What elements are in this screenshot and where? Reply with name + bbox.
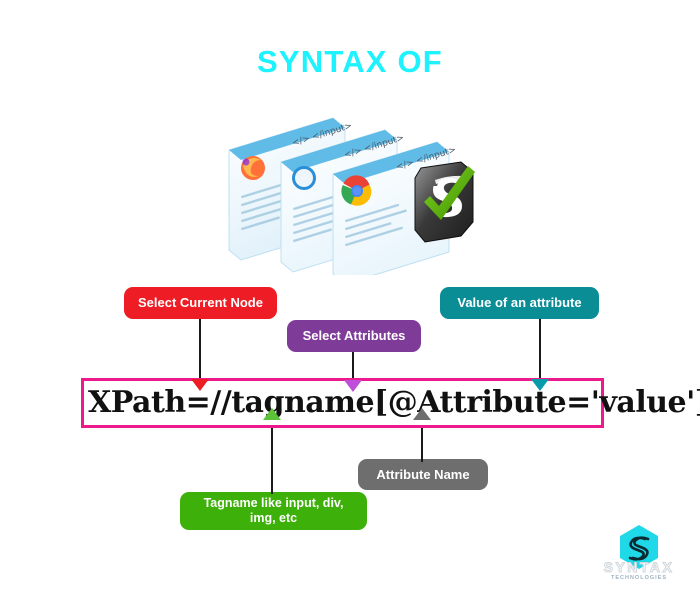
callout-value-of-an-attribute[interactable]: Value of an attribute <box>440 287 599 319</box>
arrowhead-down-red-icon <box>191 379 209 391</box>
arrowhead-down-teal-icon <box>531 379 549 391</box>
brand-tagline: TECHNOLOGIES <box>596 575 682 581</box>
arrowhead-down-purple-icon <box>344 380 362 392</box>
connector-line-value-of-an-attribute <box>539 319 541 387</box>
callout-attribute-name[interactable]: Attribute Name <box>358 459 488 490</box>
connector-line-select-current-node <box>199 319 201 387</box>
connector-line-tagname <box>271 420 273 494</box>
selenium-badge <box>415 162 475 242</box>
callout-select-attributes[interactable]: Select Attributes <box>287 320 421 352</box>
browser-windows-selenium-illustration: </> </input> </> </input> <box>225 110 480 275</box>
arrowhead-up-green-icon <box>263 408 281 420</box>
page-title: SYNTAX OF <box>0 44 700 80</box>
callout-tagname[interactable]: Tagname like input, div, img, etc <box>180 492 367 530</box>
callout-select-current-node[interactable]: Select Current Node <box>124 287 277 319</box>
safari-icon <box>292 166 316 190</box>
brand-name: SYNTAX <box>596 559 682 575</box>
slide-canvas: SYNTAX OF <box>0 0 700 600</box>
arrowhead-up-gray-icon <box>413 408 431 420</box>
firefox-icon <box>241 156 265 180</box>
